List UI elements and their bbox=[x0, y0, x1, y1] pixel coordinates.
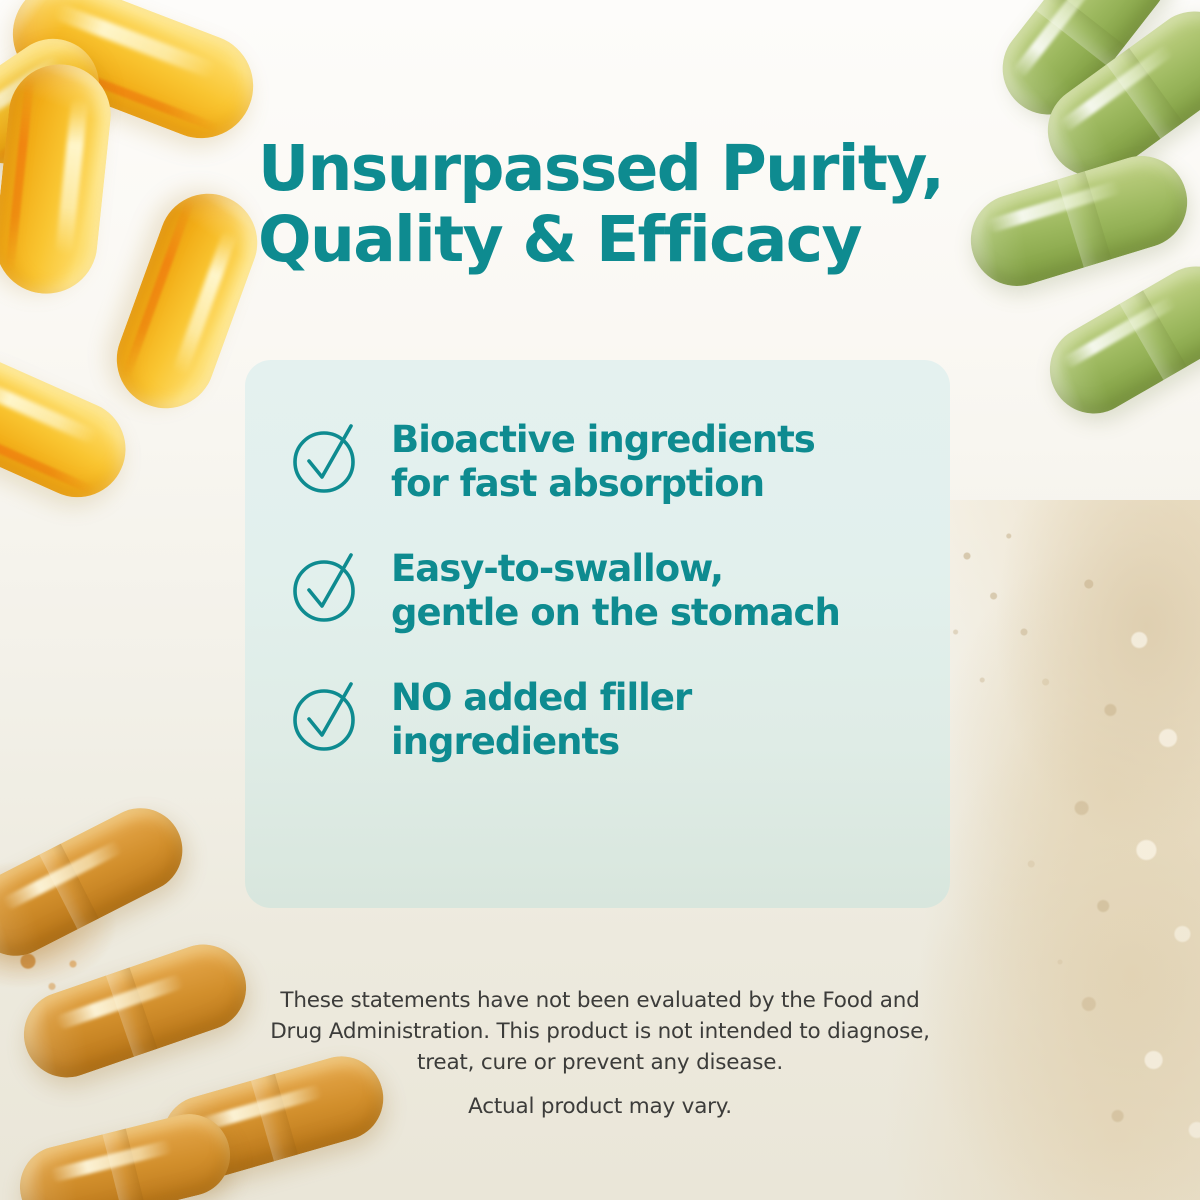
benefit-item: NO added filler ingredients bbox=[289, 674, 910, 765]
product-variation-note: Actual product may vary. bbox=[250, 1094, 950, 1119]
check-circle-icon bbox=[289, 420, 365, 496]
benefit-label: Easy-to-swallow, gentle on the stomach bbox=[391, 545, 840, 636]
fda-disclaimer: These statements have not been evaluated… bbox=[250, 986, 950, 1079]
page-title: Unsurpassed Purity, Quality & Efficacy bbox=[258, 134, 958, 275]
benefit-item: Easy-to-swallow, gentle on the stomach bbox=[289, 545, 910, 636]
product-benefits-poster: Unsurpassed Purity, Quality & Efficacy B… bbox=[0, 0, 1200, 1200]
check-circle-icon bbox=[289, 678, 365, 754]
benefits-card: Bioactive ingredients for fast absorptio… bbox=[245, 360, 950, 908]
benefit-label: NO added filler ingredients bbox=[391, 674, 691, 765]
benefit-item: Bioactive ingredients for fast absorptio… bbox=[289, 416, 910, 507]
benefit-label: Bioactive ingredients for fast absorptio… bbox=[391, 416, 815, 507]
poster-content: Unsurpassed Purity, Quality & Efficacy B… bbox=[0, 0, 1200, 1200]
check-circle-icon bbox=[289, 549, 365, 625]
